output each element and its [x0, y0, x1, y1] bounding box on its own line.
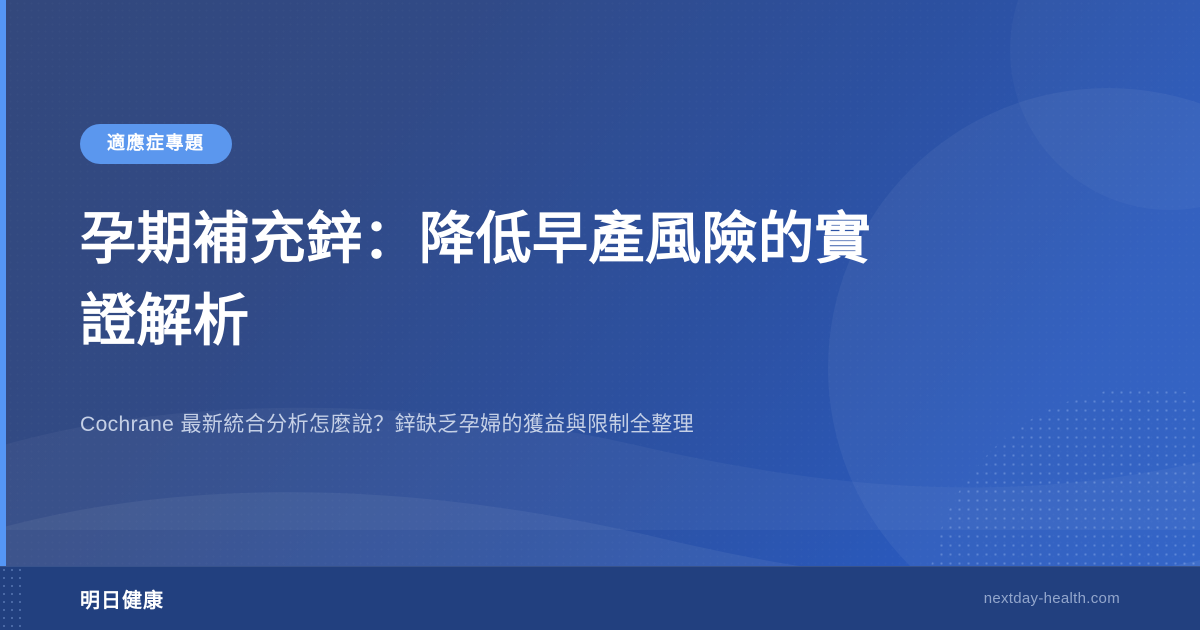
- card-content: 適應症專題 孕期補充鋅：降低早產風險的實證解析 Cochrane 最新統合分析怎…: [80, 0, 960, 566]
- decorative-circle-small: [1010, 0, 1200, 210]
- footer-dot-texture: [0, 566, 26, 630]
- page-title: 孕期補充鋅：降低早產風險的實證解析: [80, 198, 910, 362]
- left-accent-bar: [0, 0, 6, 566]
- brand-name: 明日健康: [80, 584, 164, 613]
- site-url: nextday-health.com: [984, 590, 1120, 607]
- og-share-card: 適應症專題 孕期補充鋅：降低早產風險的實證解析 Cochrane 最新統合分析怎…: [0, 0, 1200, 630]
- category-badge[interactable]: 適應症專題: [80, 124, 232, 164]
- card-footer: 明日健康 nextday-health.com: [0, 566, 1200, 630]
- page-subtitle: Cochrane 最新統合分析怎麼說？鋅缺乏孕婦的獲益與限制全整理: [80, 408, 920, 442]
